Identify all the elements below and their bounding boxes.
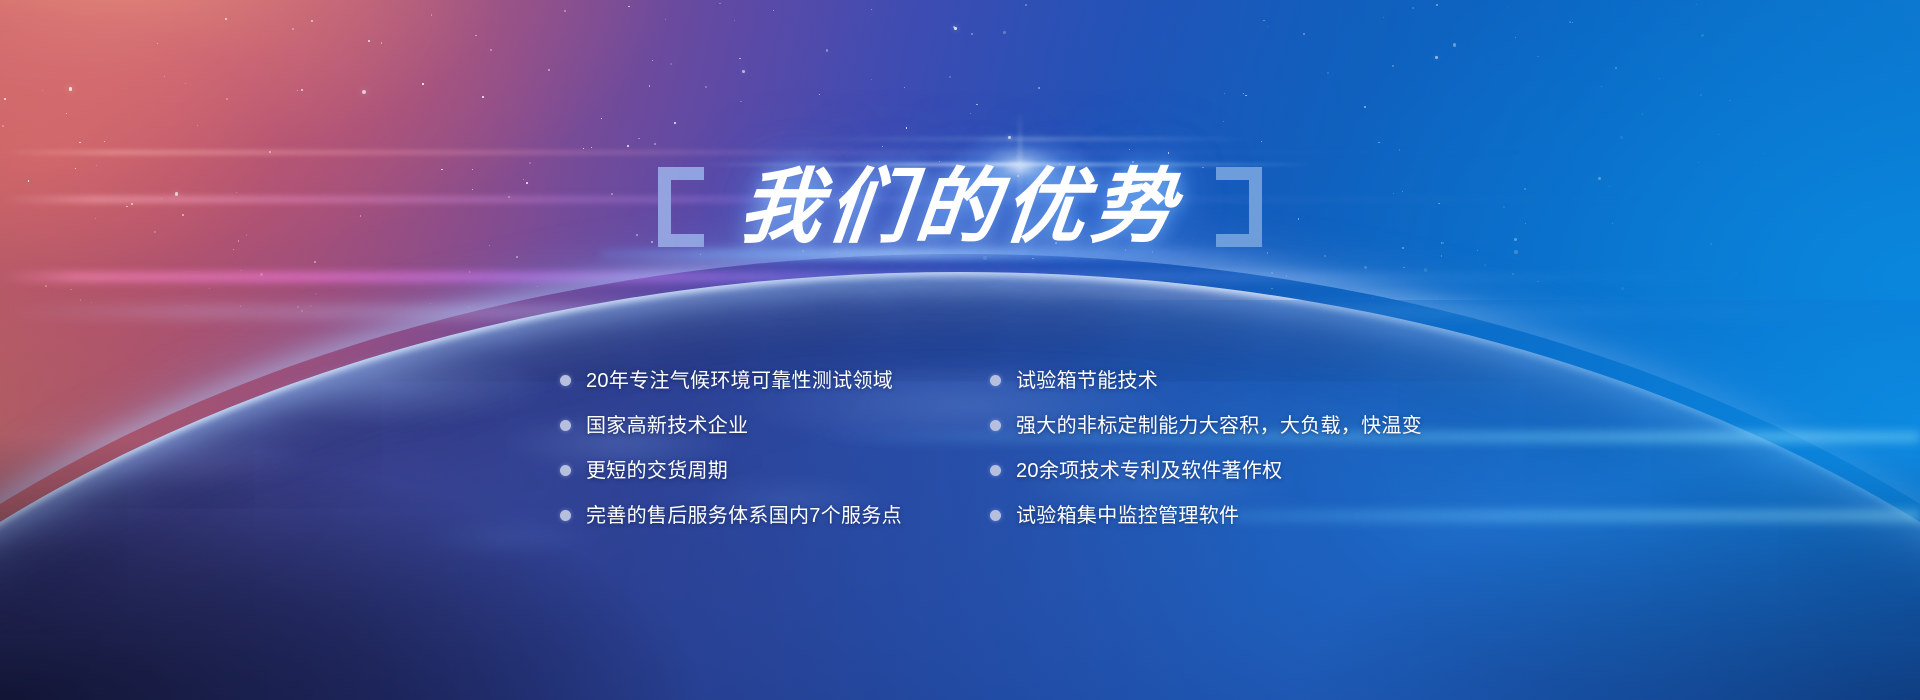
list-item-label: 试验箱节能技术 [1016,369,1158,393]
bullet-dot-icon [990,420,1001,431]
list-item-label: 强大的非标定制能力大容积，大负载，快温变 [1016,414,1422,438]
advantages-banner: 我们的优势 20年专注气候环境可靠性测试领域 国家高新技术企业 更短的交货周期 [0,0,1920,700]
advantages-left-column: 20年专注气候环境可靠性测试领域 国家高新技术企业 更短的交货周期 完善的售后服… [560,358,990,538]
list-item-label: 试验箱集中监控管理软件 [1016,504,1239,528]
bracket-right-icon [1216,167,1262,247]
bullet-dot-icon [560,465,571,476]
advantages-right-column: 试验箱节能技术 强大的非标定制能力大容积，大负载，快温变 20余项技术专利及软件… [990,358,1650,538]
bullet-dot-icon [990,375,1001,386]
list-item: 20余项技术专利及软件著作权 [990,448,1650,493]
list-item: 20年专注气候环境可靠性测试领域 [560,358,990,403]
list-item: 强大的非标定制能力大容积，大负载，快温变 [990,403,1650,448]
list-item: 更短的交货周期 [560,448,990,493]
list-item: 完善的售后服务体系国内7个服务点 [560,493,990,538]
banner-content: 我们的优势 20年专注气候环境可靠性测试领域 国家高新技术企业 更短的交货周期 [0,0,1920,700]
list-item: 国家高新技术企业 [560,403,990,448]
list-item-label: 20余项技术专利及软件著作权 [1016,459,1282,483]
advantages-columns: 20年专注气候环境可靠性测试领域 国家高新技术企业 更短的交货周期 完善的售后服… [560,358,1660,538]
bullet-dot-icon [990,510,1001,521]
bullet-dot-icon [560,510,571,521]
section-title-block: 我们的优势 [0,152,1920,262]
list-item-label: 国家高新技术企业 [586,414,748,438]
bracket-left-icon [658,167,704,247]
list-item-label: 20年专注气候环境可靠性测试领域 [586,369,893,393]
bullet-dot-icon [560,420,571,431]
list-item: 试验箱节能技术 [990,358,1650,403]
bullet-dot-icon [560,375,571,386]
page-title: 我们的优势 [726,166,1195,248]
bullet-dot-icon [990,465,1001,476]
list-item-label: 完善的售后服务体系国内7个服务点 [586,504,902,528]
list-item-label: 更短的交货周期 [586,459,728,483]
list-item: 试验箱集中监控管理软件 [990,493,1650,538]
